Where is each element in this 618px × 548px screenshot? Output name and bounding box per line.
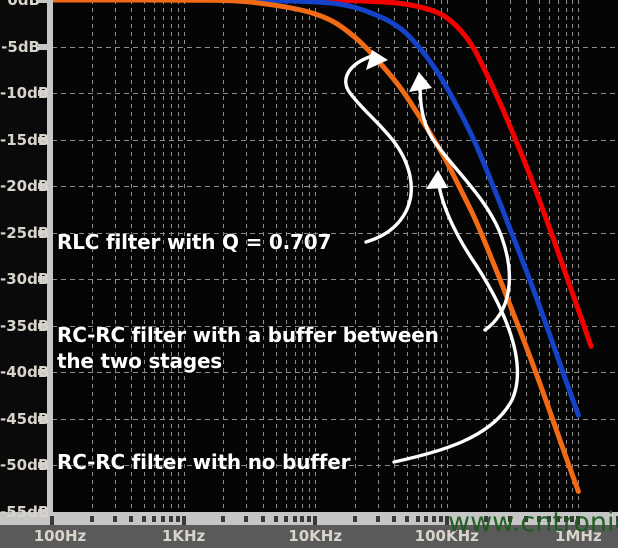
x-tick-mark [353, 516, 357, 522]
x-tick-mark [176, 516, 180, 522]
y-axis-tick-label: -20dB [0, 177, 40, 195]
x-tick-mark [274, 516, 278, 522]
y-axis-tick-label: 0dB [0, 0, 40, 9]
y-axis-tick-label: -45dB [0, 410, 40, 428]
x-tick-mark [113, 516, 117, 522]
x-tick-mark [392, 516, 396, 522]
y-axis-tick-label: -40dB [0, 363, 40, 381]
x-axis-tick-label: 1KHz [139, 527, 229, 545]
y-axis-tick-label: -25dB [0, 224, 40, 242]
x-tick-mark [152, 516, 156, 522]
annotation-buffer-line1: RC-RC filter with a buffer between [57, 323, 439, 347]
x-tick-mark [432, 516, 436, 522]
x-tick-mark [376, 516, 380, 522]
x-tick-mark [293, 516, 297, 522]
x-tick-mark [307, 516, 311, 522]
annotation-buffer-line2: the two stages [57, 349, 222, 373]
x-tick-mark [313, 516, 317, 525]
annotation-buffer-label: RC-RC filter with a buffer betweenthe tw… [57, 322, 439, 374]
y-axis-tick-label: -10dB [0, 84, 40, 102]
y-axis-tick-label: -55dB [0, 503, 40, 521]
y-axis-tick-label: -50dB [0, 456, 40, 474]
x-tick-mark [182, 516, 186, 525]
site-watermark: www.cntronics.com [448, 507, 618, 538]
x-tick-mark [424, 516, 428, 522]
x-tick-mark [405, 516, 409, 522]
bode-plot-chart: 0dB-5dB-10dB-15dB-20dB-25dB-30dB-35dB-40… [0, 0, 618, 548]
annotation-nobuffer-label: RC-RC filter with no buffer [57, 449, 350, 475]
x-tick-mark [142, 516, 146, 522]
x-tick-mark [50, 516, 54, 525]
x-axis-tick-label: 100Hz [15, 527, 105, 545]
x-tick-mark [300, 516, 304, 522]
x-tick-mark [244, 516, 248, 522]
x-tick-mark [221, 516, 225, 522]
x-tick-mark [169, 516, 173, 522]
plot-area [52, 0, 618, 512]
y-axis-tick-label: -15dB [0, 131, 40, 149]
y-axis-tick-label: -5dB [0, 38, 40, 56]
x-tick-mark [439, 516, 443, 522]
y-axis-tick-label: -35dB [0, 317, 40, 335]
x-tick-mark [416, 516, 420, 522]
x-tick-mark [129, 516, 133, 522]
x-tick-mark [261, 516, 265, 522]
x-axis-tick-label: 10KHz [270, 527, 360, 545]
y-axis-tick-label: -30dB [0, 270, 40, 288]
x-tick-mark [284, 516, 288, 522]
x-tick-mark [161, 516, 165, 522]
annotation-rlc-label: RLC filter with Q = 0.707 [57, 229, 331, 255]
y-axis-bar [47, 0, 53, 518]
x-tick-mark [90, 516, 94, 522]
